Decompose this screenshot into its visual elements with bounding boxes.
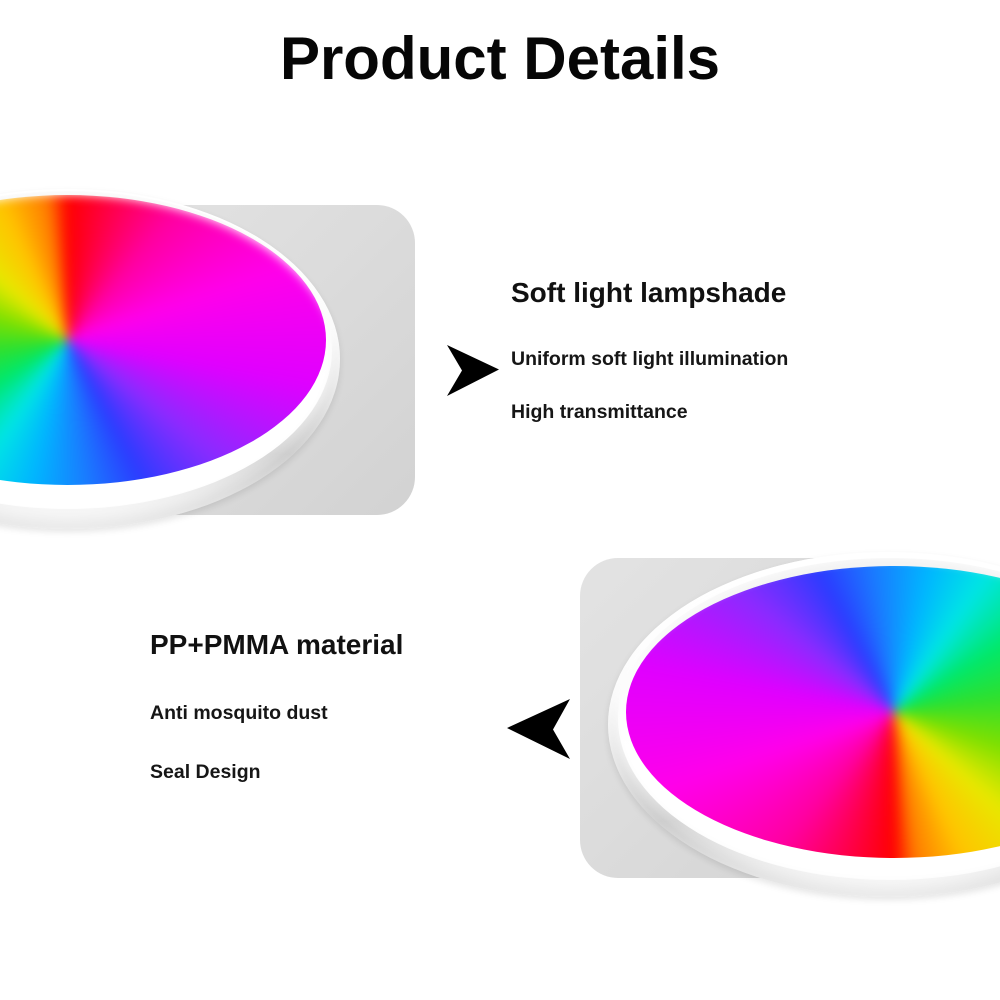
- arrow-right-icon: [443, 342, 501, 400]
- product-image-ceiling-lamp-bottom-right: [580, 550, 1000, 900]
- feature-block-pp-pmma-material: PP+PMMA material Anti mosquito dust Seal…: [150, 630, 403, 784]
- feature-heading: PP+PMMA material: [150, 630, 403, 661]
- product-details-page: Product Details Soft light lampshade Uni…: [0, 0, 1000, 1000]
- feature-line: Seal Design: [150, 762, 403, 783]
- feature-heading: Soft light lampshade: [511, 278, 788, 309]
- feature-line: Anti mosquito dust: [150, 703, 403, 724]
- lamp-rgb-diffuser: [0, 195, 326, 485]
- page-title: Product Details: [0, 24, 1000, 93]
- feature-line: High transmittance: [511, 402, 788, 423]
- arrow-left-icon: [504, 694, 574, 764]
- rgb-conic-gradient: [0, 195, 326, 485]
- lamp-rgb-diffuser: [626, 566, 1000, 858]
- product-image-ceiling-lamp-top-left: [0, 185, 420, 535]
- rgb-conic-gradient: [626, 566, 1000, 858]
- feature-block-soft-light-lampshade: Soft light lampshade Uniform soft light …: [511, 278, 788, 424]
- feature-line: Uniform soft light illumination: [511, 349, 788, 370]
